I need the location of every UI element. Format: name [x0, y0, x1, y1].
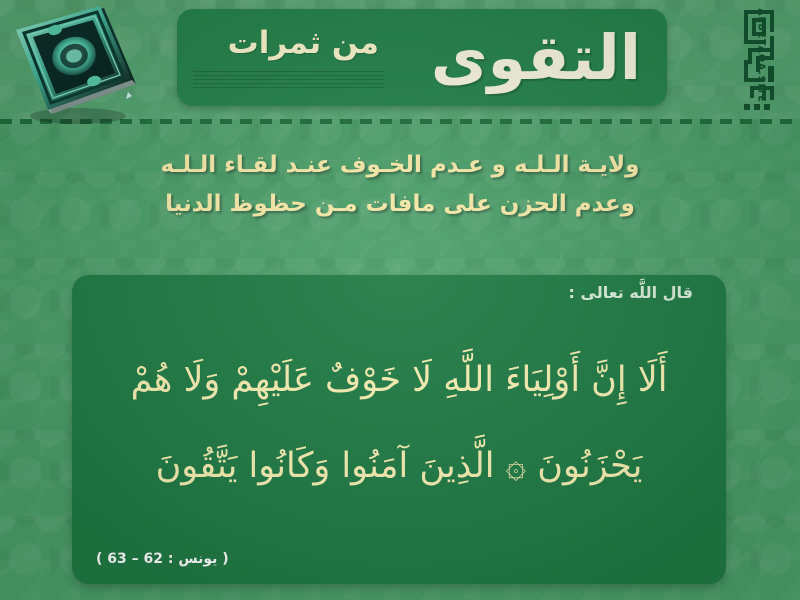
said-allah-label: قال اللَّه تعالى :: [569, 283, 693, 302]
subtitle-line-2: وعدم الحزن على مافات مـن حظوظ الدنيا: [0, 185, 800, 224]
title-banner: من ثمرات التقوى: [177, 9, 667, 106]
verse-line-2: يَحْزَنُونَ ۞ الَّذِينَ آمَنُوا وَكَانُو…: [72, 423, 726, 509]
title-kicker: من ثمرات: [228, 23, 379, 63]
title-stripe-decoration: [193, 71, 384, 88]
quran-verse-text: أَلَا إِنَّ أَوْلِيَاءَ اللَّهِ لَا خَوْ…: [72, 337, 726, 509]
verse-citation: ( يونس : 62 – 63 ): [96, 551, 229, 567]
verse-line-1: أَلَا إِنَّ أَوْلِيَاءَ اللَّهِ لَا خَوْ…: [72, 337, 726, 423]
brand-name: ALBETAQA.SITE: [756, 6, 767, 106]
quran-book-icon: [8, 6, 144, 126]
verse-panel: قال اللَّه تعالى : أَلَا إِنَّ أَوْلِيَا…: [72, 275, 726, 584]
brand-logo[interactable]: ALBETAQA.SITE: [742, 6, 794, 118]
subtitle: ولايـة الـلـه و عـدم الخـوف عنـد لقـاء ا…: [0, 146, 800, 224]
poster-canvas: من ثمرات التقوى: [0, 0, 800, 600]
page-title: التقوى: [431, 15, 641, 101]
subtitle-line-1: ولايـة الـلـه و عـدم الخـوف عنـد لقـاء ا…: [0, 146, 800, 185]
